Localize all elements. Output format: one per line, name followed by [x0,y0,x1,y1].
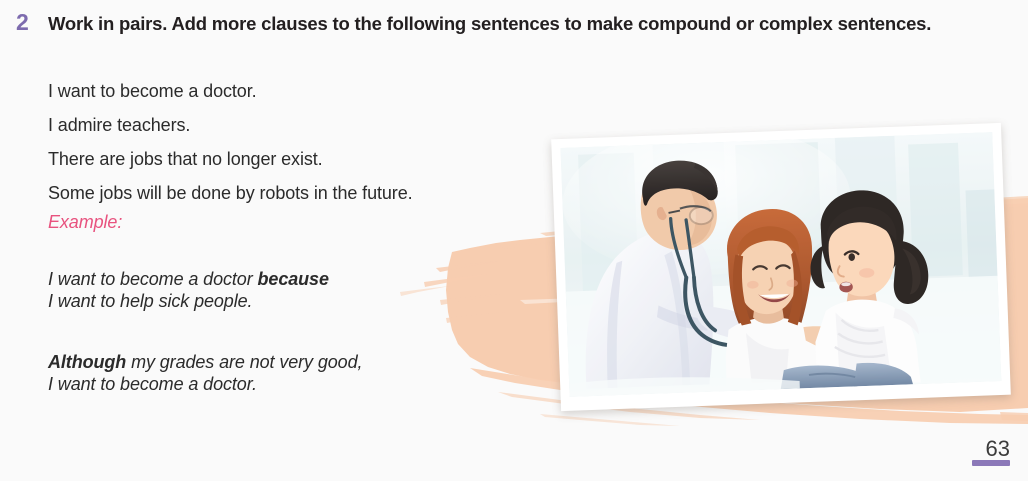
example-item: I want to become a doctor because I want… [48,246,518,312]
sentence-item: There are jobs that no longer exist. [48,142,568,176]
exercise-number: 2 [16,9,28,36]
sentence-list: I want to become a doctor. I admire teac… [48,74,568,210]
example-list: I want to become a doctor because I want… [48,246,518,412]
photo-image [560,132,1001,397]
example-label: Example: [48,212,122,233]
sentence-item: Some jobs will be done by robots in the … [48,176,568,210]
example-connector-word: Although [48,352,126,372]
example-connector-word: because [258,269,329,289]
example-tail-text: I want to help sick people. [48,291,252,311]
workbook-page: 2 Work in pairs. Add more clauses to the… [0,0,1028,481]
page-number: 63 [986,436,1010,462]
example-lead-text: I want to become a doctor [48,269,258,289]
sentence-item: I admire teachers. [48,108,568,142]
page-number-accent-bar [972,460,1010,466]
doctor-examining-child-photo [560,132,1001,397]
exercise-instruction: Work in pairs. Add more clauses to the f… [48,11,973,36]
photo-frame [551,123,1011,411]
example-item: Although my grades are not very good, I … [48,329,518,395]
sentence-item: I want to become a doctor. [48,74,568,108]
